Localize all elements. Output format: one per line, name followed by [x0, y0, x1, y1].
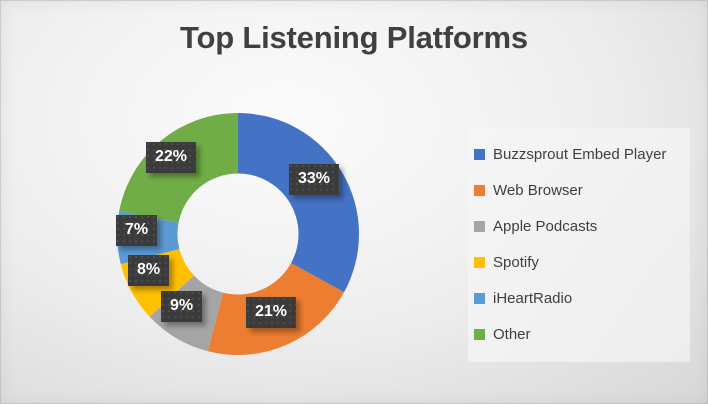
legend-item-5[interactable]: iHeartRadio [474, 280, 686, 316]
legend-item-label: iHeartRadio [493, 290, 572, 307]
doughnut-slice-1[interactable] [238, 113, 359, 292]
legend-swatch-icon [474, 257, 485, 268]
legend-item-label: Apple Podcasts [493, 218, 597, 235]
legend-item-label: Spotify [493, 254, 539, 271]
chart-title: Top Listening Platforms [0, 20, 708, 56]
chart-slide: Top Listening Platforms 33%21%9%8%7%22% … [0, 0, 708, 404]
data-label-5: 7% [116, 215, 157, 246]
data-label-2: 21% [246, 297, 296, 328]
legend-item-4[interactable]: Spotify [474, 244, 686, 280]
legend-item-label: Other [493, 326, 531, 343]
data-label-1: 33% [289, 164, 339, 195]
data-label-4: 8% [128, 255, 169, 286]
data-label-3: 9% [161, 291, 202, 322]
legend-swatch-icon [474, 149, 485, 160]
legend-item-2[interactable]: Web Browser [474, 172, 686, 208]
legend-item-6[interactable]: Other [474, 316, 686, 352]
legend-item-label: Web Browser [493, 182, 583, 199]
chart-legend: Buzzsprout Embed PlayerWeb BrowserApple … [468, 128, 690, 362]
legend-swatch-icon [474, 329, 485, 340]
legend-item-3[interactable]: Apple Podcasts [474, 208, 686, 244]
data-label-6: 22% [146, 142, 196, 173]
legend-item-label: Buzzsprout Embed Player [493, 146, 666, 163]
legend-swatch-icon [474, 293, 485, 304]
legend-swatch-icon [474, 221, 485, 232]
legend-item-1[interactable]: Buzzsprout Embed Player [474, 136, 686, 172]
legend-swatch-icon [474, 185, 485, 196]
